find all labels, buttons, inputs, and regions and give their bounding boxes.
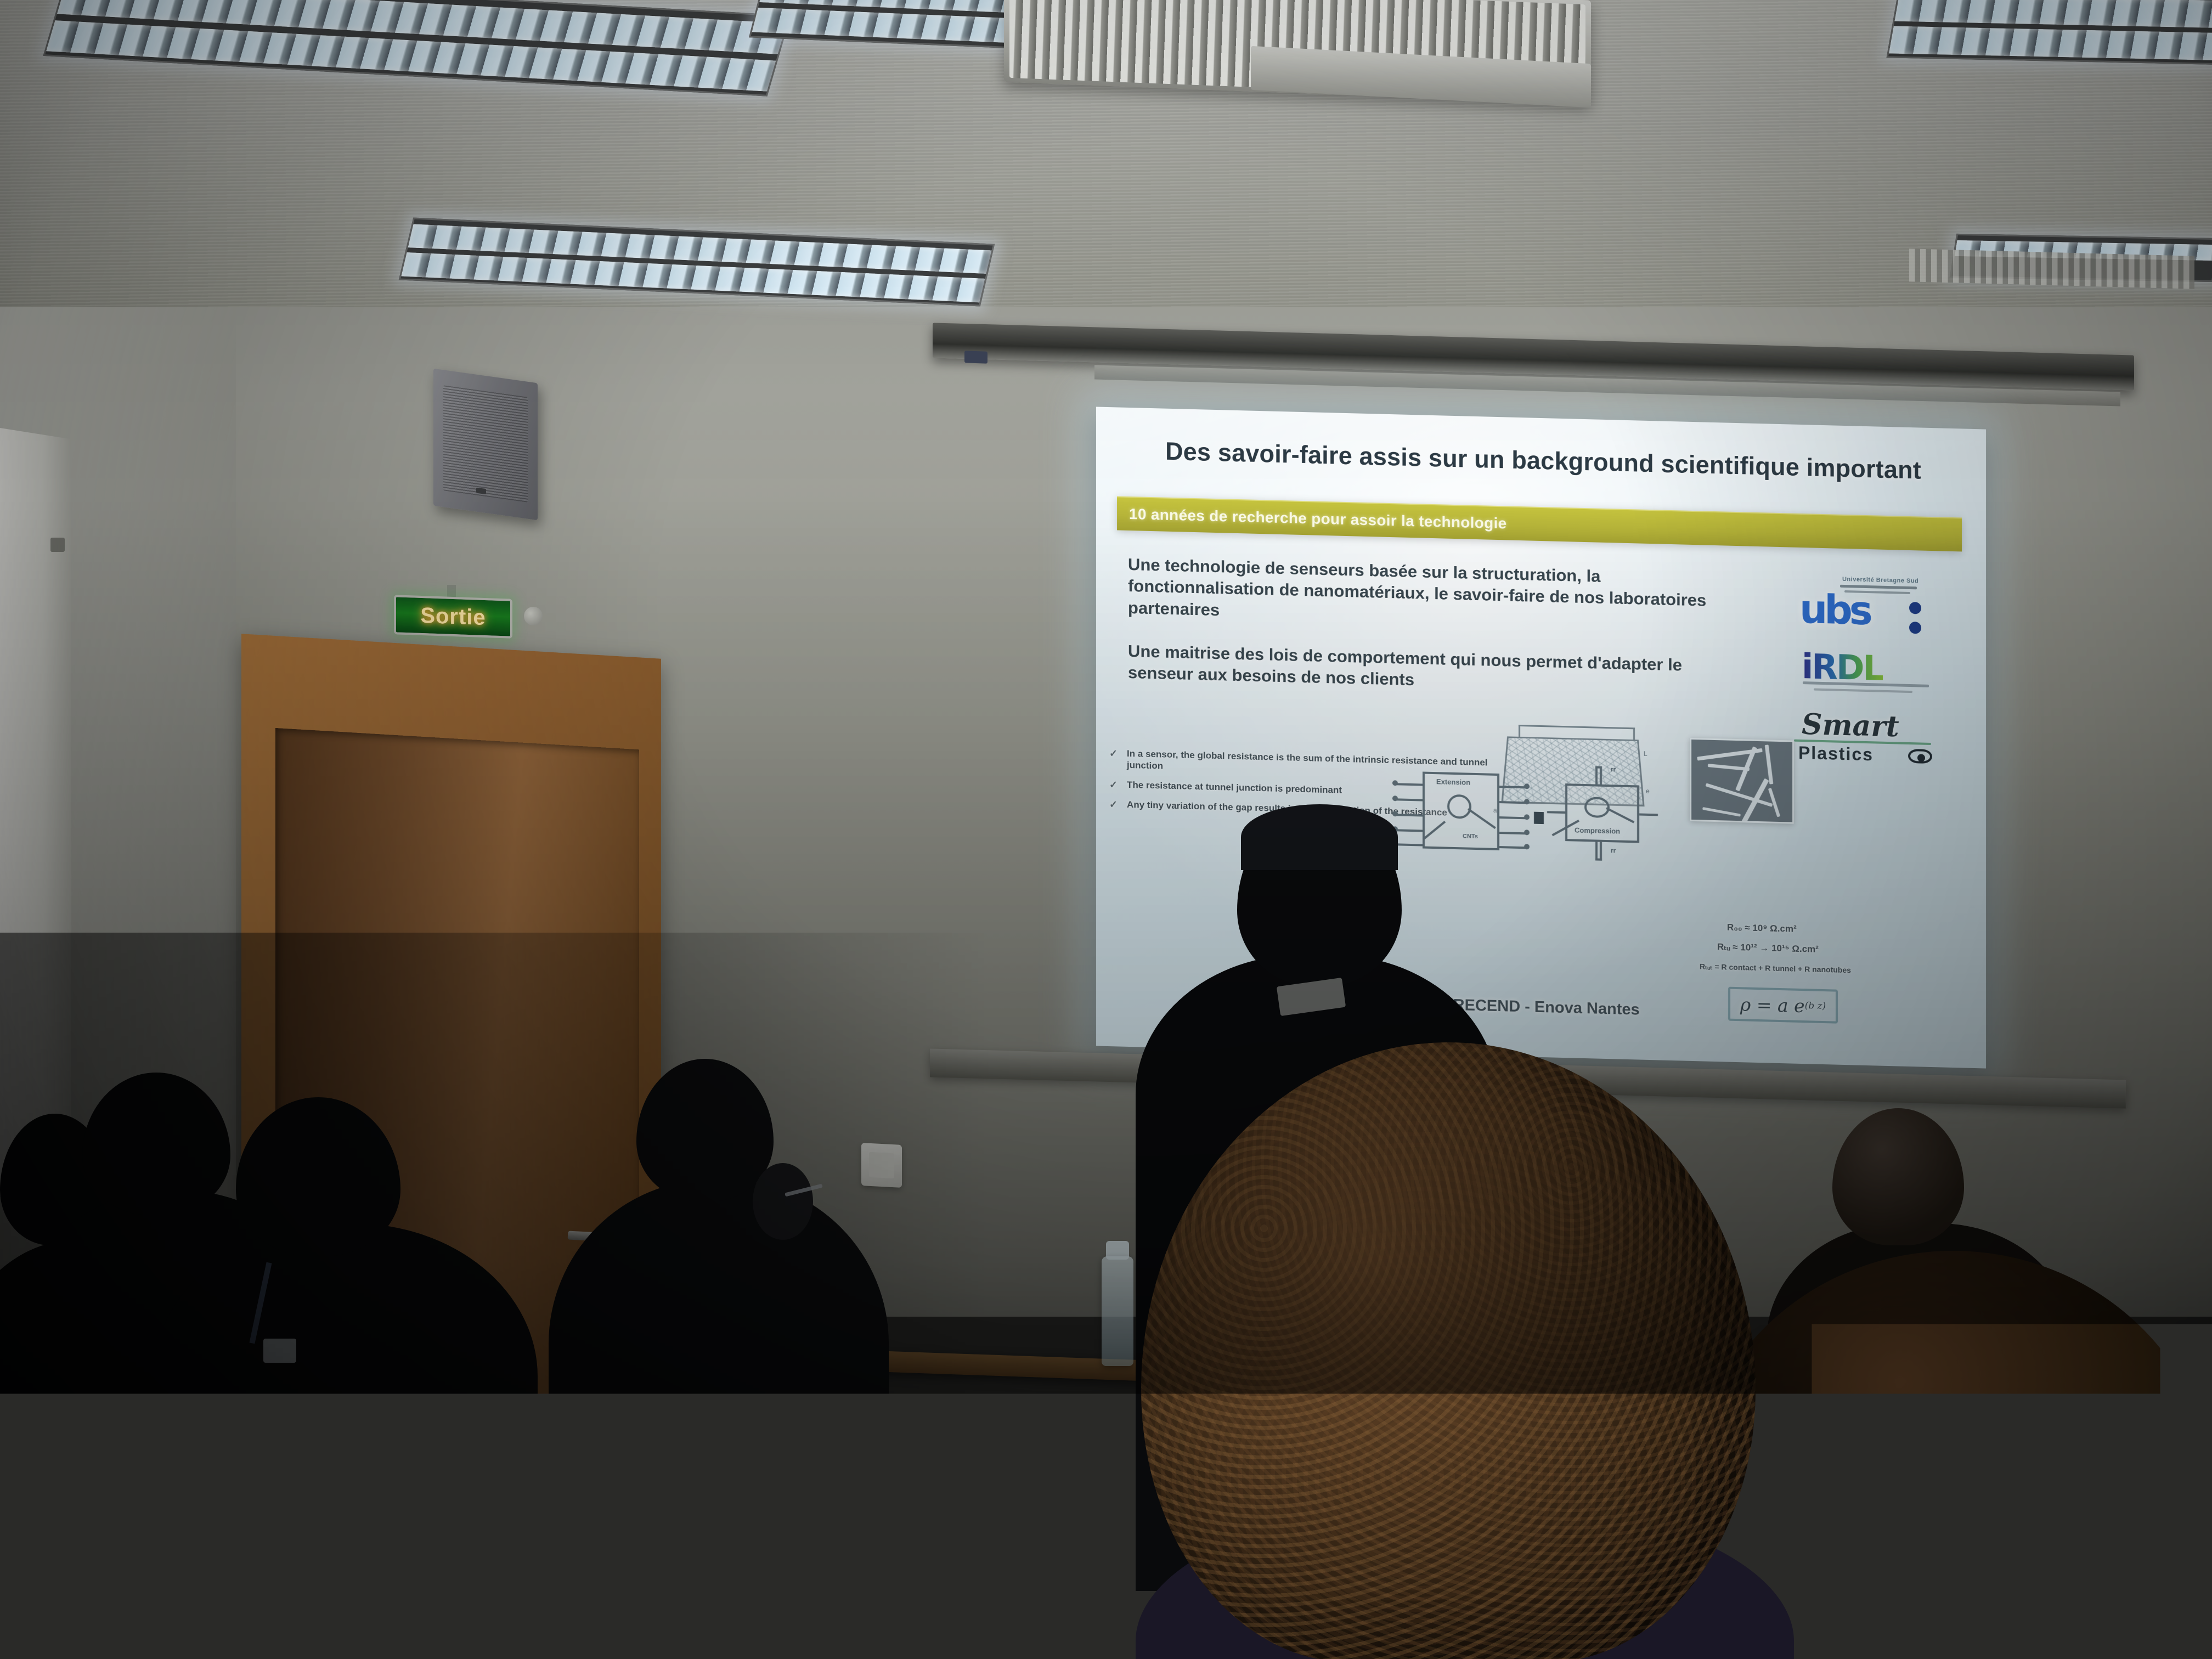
light-louver (1894, 0, 2212, 28)
smart-plastics-subword: Plastics (1798, 743, 1874, 765)
connector-block (1534, 812, 1544, 824)
chip-label-compression: Compression (1575, 826, 1620, 836)
slide-section-banner: 10 années de recherche pour assoir la te… (1117, 496, 1962, 551)
force-label-bottom: rr (1611, 847, 1616, 854)
wall-mounted-loudspeaker (433, 369, 538, 521)
slide-section-banner-label: 10 années de recherche pour assoir la te… (1129, 505, 1507, 532)
force-arrow-bottom (1595, 841, 1602, 861)
magnifier-icon (1447, 794, 1471, 819)
presenter-hair (1241, 804, 1398, 870)
irdl-logo-rule (1814, 689, 1912, 693)
ubs-logo-dot (1909, 602, 1921, 614)
screen-mount-bracket (964, 351, 988, 363)
badge (263, 1339, 296, 1363)
checkmark-icon: ✓ (1109, 798, 1120, 811)
ubs-logo-wordmark: ubs (1799, 586, 1870, 634)
speaker-grille (443, 385, 528, 503)
smart-plastics-wordmark: Smart (1802, 708, 1899, 743)
checkmark-icon: ✓ (1109, 747, 1120, 771)
ubs-logo-tagline: Université Bretagne Sud (1842, 576, 1918, 585)
conference-room-scene: Sortie Des savoir-faire assis sur un bac… (0, 0, 2212, 1659)
light-louver (1889, 26, 2212, 60)
magnifier-icon (1584, 797, 1610, 818)
desk (856, 1350, 1141, 1381)
equation-3: Rₜᵤₜ = R contact + R tunnel + R nanotube… (1700, 962, 1851, 975)
force-arrow-top (1595, 766, 1602, 786)
water-bottle (1102, 1256, 1133, 1366)
smart-plastics-logo: Smart Plastics (1794, 708, 1942, 764)
chip-label-extension: Extension (1436, 777, 1470, 787)
chip-label-cnts: CNTs (1463, 833, 1478, 840)
equation-2: Rₜᵤ ≈ 10¹² → 10¹⁵ Ω.cm² (1717, 941, 1819, 955)
raised-hand (753, 1163, 813, 1240)
ubs-logo: Université Bretagne Sud ubs (1799, 575, 1937, 637)
slide-paragraph-1: Une technologie de senseurs basée sur la… (1128, 554, 1731, 634)
ubs-logo-dot (1909, 622, 1921, 634)
irdl-logo: iRDL (1799, 646, 1937, 702)
list-item-label: The resistance at tunnel junction is pre… (1127, 778, 1342, 796)
eye-icon (1908, 749, 1932, 764)
slide-paragraph-2: Une maitrise des lois de comportement qu… (1128, 640, 1731, 699)
sem-micrograph (1690, 738, 1794, 824)
audience-member-4 (549, 1180, 889, 1659)
wall-light-switch[interactable] (861, 1143, 902, 1188)
checkmark-icon: ✓ (1109, 778, 1120, 791)
emergency-light-dome (524, 607, 543, 625)
schematic-dimension-label: e (1646, 787, 1650, 795)
exit-sign: Sortie (394, 595, 512, 639)
wall-fixture (50, 538, 65, 552)
slide-title: Des savoir-faire assis sur un background… (1129, 436, 1957, 486)
equation-1: R₀₀ ≈ 10⁹ Ω.cm² (1727, 922, 1797, 935)
audience-member-2 (154, 1223, 538, 1659)
schematic-dimension-label: L (1644, 750, 1647, 758)
ceiling-light-panel (1887, 0, 2212, 65)
force-label-top: rr (1611, 765, 1616, 773)
exit-sign-label: Sortie (420, 603, 486, 630)
